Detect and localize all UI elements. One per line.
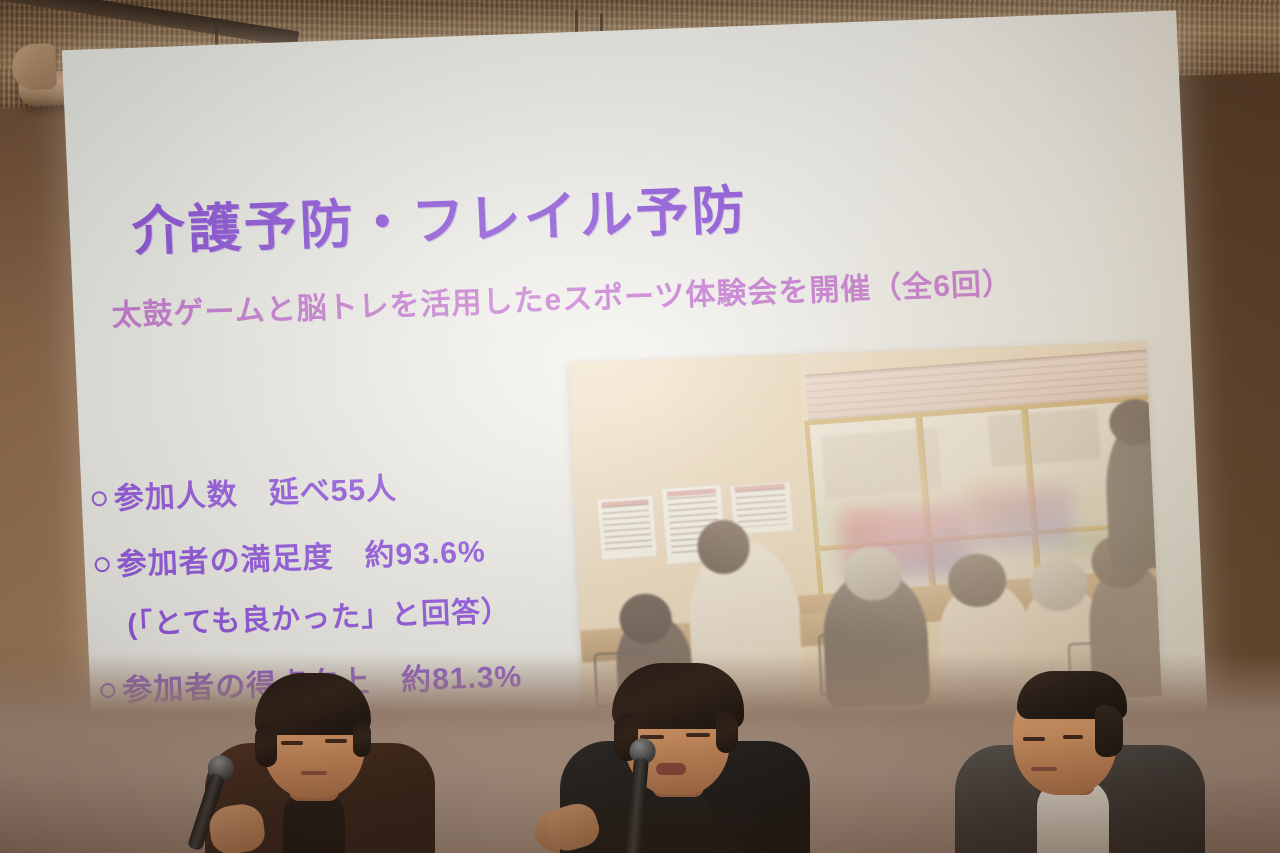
panelist-right-sideburn bbox=[1095, 705, 1123, 757]
panelist-right-mouth bbox=[1031, 767, 1057, 771]
panelist-right-eye bbox=[1023, 737, 1045, 741]
slide-title: 介護予防・フレイル予防 bbox=[130, 168, 749, 266]
panelist-left-eye bbox=[325, 739, 347, 743]
panelist-right-eye bbox=[1063, 735, 1083, 739]
panelist-left-mouth bbox=[301, 771, 327, 775]
bullet-circle-icon bbox=[91, 491, 107, 507]
panelist-center-sideburn bbox=[716, 711, 738, 753]
bullet-text: 参加人数 延べ55人 bbox=[113, 464, 398, 518]
conference-panel-scene: 介護予防・フレイル予防 太鼓ゲームと脳トレを活用したeスポーツ体験会を開催（全6… bbox=[0, 0, 1280, 853]
microphone-body bbox=[626, 758, 649, 853]
bullet-text: 参加者の満足度 約93.6% bbox=[116, 526, 487, 583]
panelist-left-sideburn bbox=[353, 721, 371, 757]
panelist-center-eye bbox=[686, 733, 710, 737]
panelist-left-eye bbox=[281, 741, 303, 745]
list-item: 参加人数 延べ55人 bbox=[91, 456, 613, 519]
slide-subtitle: 太鼓ゲームと脳トレを活用したeスポーツ体験会を開催（全6回） bbox=[111, 258, 1014, 334]
photo-outside-building bbox=[987, 408, 1101, 467]
bullet-circle-icon bbox=[94, 557, 110, 573]
panelist-right bbox=[955, 688, 1205, 853]
list-item: 参加者の満足度 約93.6% bbox=[94, 522, 616, 585]
photo-game-monitor bbox=[967, 486, 1074, 550]
microphone-center[interactable] bbox=[613, 731, 683, 853]
